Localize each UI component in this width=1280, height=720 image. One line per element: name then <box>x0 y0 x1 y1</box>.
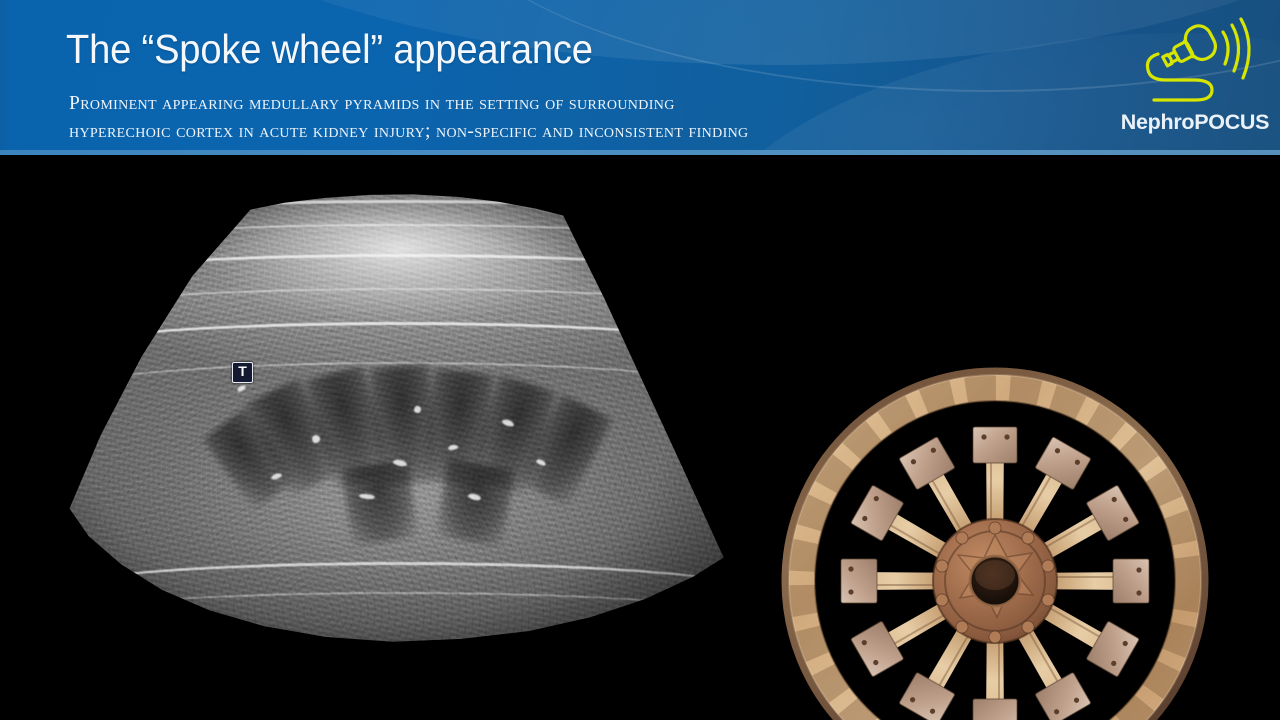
orientation-marker-t: T <box>232 362 253 383</box>
brand-logo: NephroPOCUS <box>1120 14 1270 144</box>
page-subtitle: Prominent appearing medullary pyramids i… <box>69 90 1029 147</box>
page-title: The “Spoke wheel” appearance <box>66 26 593 73</box>
page-subtitle-line-1: Prominent appearing medullary pyramids i… <box>69 90 1029 118</box>
kidney-ultrasound-image <box>60 190 740 680</box>
wheel-hub <box>933 519 1057 643</box>
slide-body: T <box>0 155 1280 720</box>
slide-header: The “Spoke wheel” appearance Prominent a… <box>0 0 1280 155</box>
header-left-edge <box>0 0 10 155</box>
slide-canvas: The “Spoke wheel” appearance Prominent a… <box>0 0 1280 720</box>
wagon-wheel-image <box>781 367 1209 720</box>
ultrasound-vignette <box>60 190 740 680</box>
ultrasound-probe-icon <box>1128 14 1258 109</box>
page-subtitle-line-2: hyperechoic cortex in acute kidney injur… <box>69 118 1029 146</box>
brand-logo-text: NephroPOCUS <box>1120 110 1270 135</box>
ultrasound-sector <box>60 190 740 680</box>
